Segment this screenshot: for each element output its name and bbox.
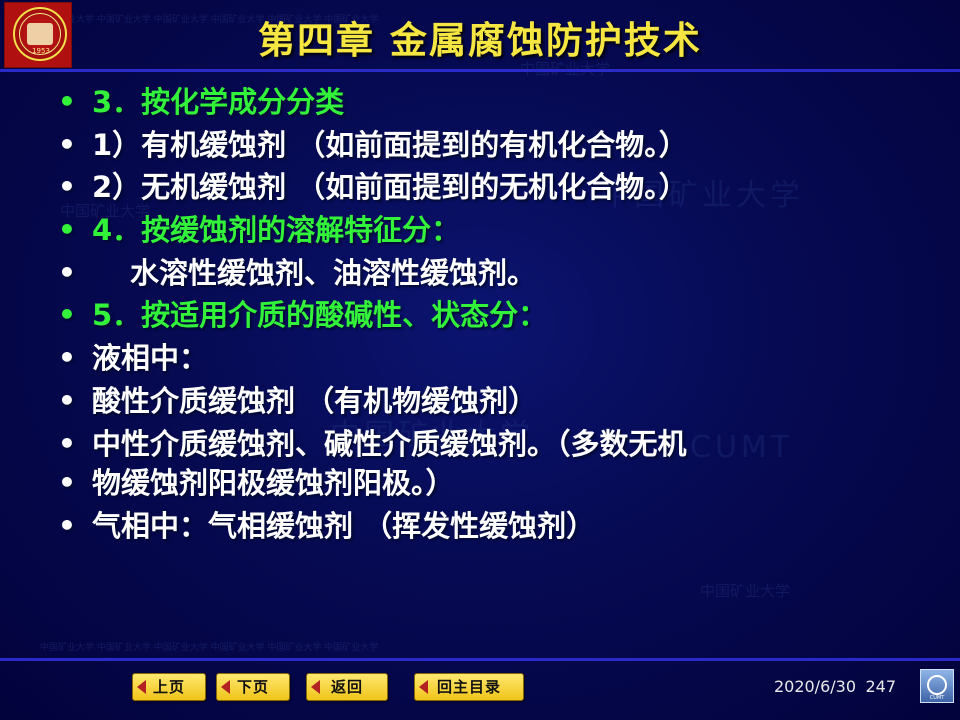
home-menu-button[interactable]: 回主目录 bbox=[414, 673, 524, 701]
back-button[interactable]: 返回 bbox=[306, 673, 388, 701]
corner-logo-text: CUMT bbox=[921, 695, 953, 701]
bullet-list: 3．按化学成分分类 1）有机缓蚀剂 （如前面提到的有机化合物。） 2）无机缓蚀剂… bbox=[0, 74, 960, 546]
list-item: 气相中：气相缓蚀剂 （挥发性缓蚀剂） bbox=[0, 508, 960, 546]
corner-logo-icon: CUMT bbox=[920, 669, 954, 703]
list-item-continuation: 物缓蚀剂阳极缓蚀剂阳极。） bbox=[0, 465, 960, 503]
page-title: 第四章 金属腐蚀防护技术 bbox=[0, 10, 960, 64]
list-item: 液相中： bbox=[0, 340, 960, 378]
list-item: 2）无机缓蚀剂 （如前面提到的无机化合物。） bbox=[0, 169, 960, 207]
list-item: 中性介质缓蚀剂、碱性介质缓蚀剂。（多数无机 bbox=[0, 426, 960, 464]
slide: 中国矿业大学 中国矿业大学 中国矿业大学 中国矿业大学 中国矿业大学 中国矿业大… bbox=[0, 0, 960, 720]
list-item: 水溶性缓蚀剂、油溶性缓蚀剂。 bbox=[0, 255, 960, 293]
list-item: 3．按化学成分分类 bbox=[0, 84, 960, 122]
list-item: 5．按适用介质的酸碱性、状态分： bbox=[0, 297, 960, 335]
arrow-icon bbox=[311, 680, 320, 694]
date-text: 2020/6/30 bbox=[774, 677, 856, 696]
arrow-icon bbox=[221, 680, 230, 694]
slide-footer: 上页 下页 返回 回主目录 2020/6/30 247 CUMT bbox=[0, 658, 960, 720]
back-label: 返回 bbox=[331, 678, 363, 696]
home-menu-label: 回主目录 bbox=[437, 678, 501, 696]
page-number: 247 bbox=[865, 677, 896, 696]
next-page-button[interactable]: 下页 bbox=[216, 673, 290, 701]
arrow-icon bbox=[137, 680, 146, 694]
next-page-label: 下页 bbox=[237, 678, 269, 696]
slide-header: 1953 第四章 金属腐蚀防护技术 bbox=[0, 0, 960, 72]
prev-page-button[interactable]: 上页 bbox=[132, 673, 206, 701]
slide-body: 3．按化学成分分类 1）有机缓蚀剂 （如前面提到的有机化合物。） 2）无机缓蚀剂… bbox=[0, 74, 960, 644]
arrow-icon bbox=[419, 680, 428, 694]
prev-page-label: 上页 bbox=[153, 678, 185, 696]
list-item: 4．按缓蚀剂的溶解特征分： bbox=[0, 212, 960, 250]
list-item: 酸性介质缓蚀剂 （有机物缓蚀剂） bbox=[0, 383, 960, 421]
list-item-continuation-text: 物缓蚀剂阳极缓蚀剂阳极。） bbox=[92, 465, 960, 503]
list-item: 1）有机缓蚀剂 （如前面提到的有机化合物。） bbox=[0, 127, 960, 165]
